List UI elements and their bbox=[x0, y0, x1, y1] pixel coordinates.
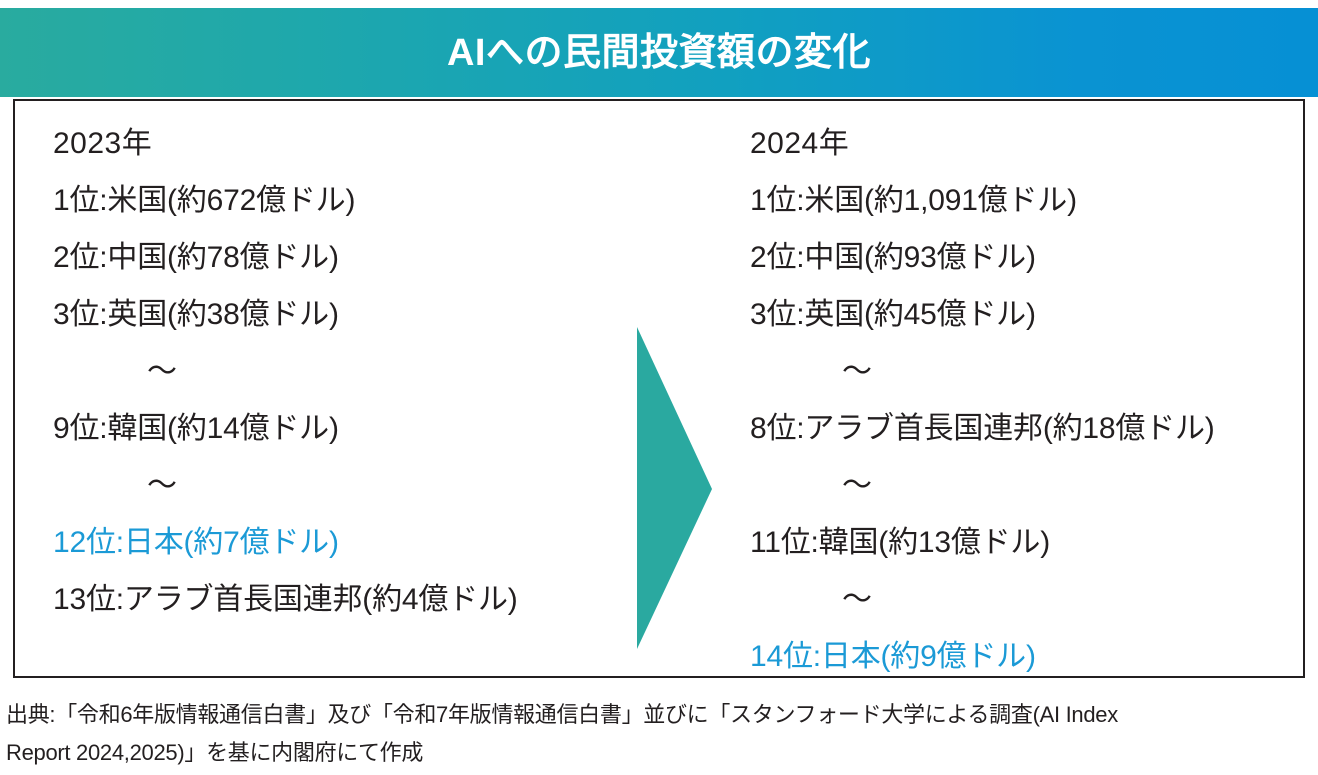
right-arrow-triangle-icon bbox=[635, 327, 715, 651]
ranking-line: 13位:アラブ首長国連邦(約4億ドル) bbox=[53, 571, 613, 628]
header-band: AIへの民間投資額の変化 bbox=[0, 8, 1318, 97]
page-title: AIへの民間投資額の変化 bbox=[447, 34, 871, 72]
ranking-line: 8位:アラブ首長国連邦(約18億ドル) bbox=[750, 400, 1290, 457]
ranking-line: 11位:韓国(約13億ドル) bbox=[750, 514, 1290, 571]
content-frame: 2023年 1位:米国(約672億ドル)2位:中国(約78億ドル)3位:英国(約… bbox=[13, 99, 1305, 678]
ellipsis-tilde: 〜 bbox=[750, 457, 1290, 514]
ranking-line: 3位:英国(約38億ドル) bbox=[53, 286, 613, 343]
ranking-line: 1位:米国(約1,091億ドル) bbox=[750, 172, 1290, 229]
column-2023: 2023年 1位:米国(約672億ドル)2位:中国(約78億ドル)3位:英国(約… bbox=[53, 115, 613, 628]
column-2024: 2024年 1位:米国(約1,091億ドル)2位:中国(約93億ドル)3位:英国… bbox=[750, 115, 1290, 685]
ranking-list-2023: 1位:米国(約672億ドル)2位:中国(約78億ドル)3位:英国(約38億ドル)… bbox=[53, 172, 613, 628]
ranking-line: 3位:英国(約45億ドル) bbox=[750, 286, 1290, 343]
source-note: 出典:「令和6年版情報通信白書」及び「令和7年版情報通信白書」並びに「スタンフォ… bbox=[6, 696, 1316, 772]
ranking-list-2024: 1位:米国(約1,091億ドル)2位:中国(約93億ドル)3位:英国(約45億ド… bbox=[750, 172, 1290, 685]
source-note-line-1: 出典:「令和6年版情報通信白書」及び「令和7年版情報通信白書」並びに「スタンフォ… bbox=[6, 696, 1316, 734]
ellipsis-tilde: 〜 bbox=[750, 571, 1290, 628]
ellipsis-tilde: 〜 bbox=[53, 457, 613, 514]
source-note-line-2: Report 2024,2025)」を基に内閣府にて作成 bbox=[6, 734, 1316, 772]
year-label-2023: 2023年 bbox=[53, 115, 613, 172]
infographic-root: AIへの民間投資額の変化 2023年 1位:米国(約672億ドル)2位:中国(約… bbox=[0, 0, 1318, 775]
ranking-line: 9位:韓国(約14億ドル) bbox=[53, 400, 613, 457]
ellipsis-tilde: 〜 bbox=[750, 343, 1290, 400]
ranking-line: 2位:中国(約93億ドル) bbox=[750, 229, 1290, 286]
ranking-line: 1位:米国(約672億ドル) bbox=[53, 172, 613, 229]
ranking-line: 12位:日本(約7億ドル) bbox=[53, 514, 613, 571]
ellipsis-tilde: 〜 bbox=[53, 343, 613, 400]
ranking-line: 14位:日本(約9億ドル) bbox=[750, 628, 1290, 685]
ranking-line: 2位:中国(約78億ドル) bbox=[53, 229, 613, 286]
year-label-2024: 2024年 bbox=[750, 115, 1290, 172]
